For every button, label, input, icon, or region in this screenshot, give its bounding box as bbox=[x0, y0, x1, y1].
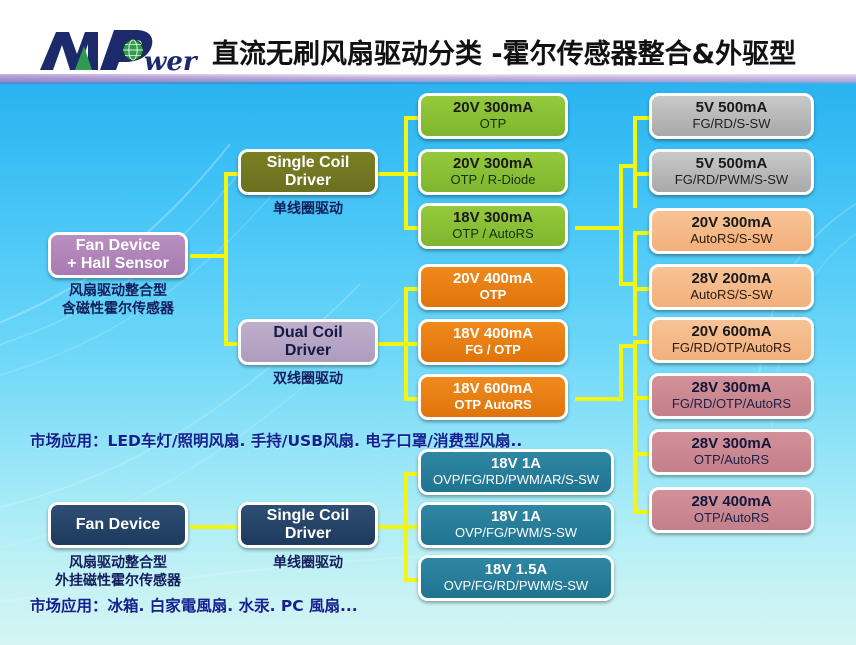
product-spec: 28V 200mA bbox=[691, 271, 771, 287]
wire-peach-branch-2 bbox=[633, 287, 649, 291]
market-note-top: 市场应用：LED车灯/照明风扇. 手持/USB风扇. 电子口罩/消费型风扇.. bbox=[30, 429, 522, 451]
wire-device-to-trunk bbox=[190, 254, 228, 258]
product-card-rose-2[interactable]: 28V 300mA OTP/AutoRS bbox=[649, 429, 814, 475]
wire-right-bus-mid bbox=[619, 226, 623, 286]
wire-gray-branch-2 bbox=[633, 172, 649, 176]
wire-rose-branch-3 bbox=[633, 452, 649, 456]
product-card-teal-3[interactable]: 18V 1.5A OVP/FG/RD/PWM/S-SW bbox=[418, 555, 614, 601]
wire-sc-branch-3 bbox=[404, 226, 418, 230]
wire-gray-branch-1 bbox=[633, 116, 649, 120]
node-line-1: Single Coil bbox=[267, 507, 350, 525]
product-card-teal-2[interactable]: 18V 1A OVP/FG/PWM/S-SW bbox=[418, 502, 614, 548]
wire-dc-branch-2 bbox=[404, 342, 418, 346]
wire-peach-bus bbox=[633, 231, 637, 336]
node-line-2: Driver bbox=[285, 525, 331, 543]
product-card-teal-1[interactable]: 18V 1A OVP/FG/RD/PWM/AR/S-SW bbox=[418, 449, 614, 495]
product-card-orange-3[interactable]: 18V 600mA OTP AutoRS bbox=[418, 374, 568, 420]
product-spec: 20V 400mA bbox=[453, 271, 533, 287]
header-bar: wer 直流无刷风扇驱动分类 -霍尔传感器整合&外驱型 bbox=[0, 0, 856, 78]
wire-bottom-branch-3 bbox=[404, 578, 418, 582]
product-spec: 18V 600mA bbox=[453, 381, 533, 397]
wire-orange-to-right bbox=[575, 397, 623, 401]
product-features: FG/RD/PWM/S-SW bbox=[675, 173, 788, 187]
node-fan-device-hall-sensor[interactable]: Fan Device + Hall Sensor bbox=[48, 232, 188, 278]
product-spec: 18V 1A bbox=[491, 509, 541, 525]
wire-dc-branch-3 bbox=[404, 397, 418, 401]
product-card-peach-1[interactable]: 20V 300mA AutoRS/S-SW bbox=[649, 208, 814, 254]
product-spec: 18V 1.5A bbox=[485, 562, 548, 578]
product-features: FG/RD/OTP/AutoRS bbox=[672, 397, 791, 411]
wire-rose-bus-main bbox=[619, 344, 623, 400]
product-spec: 28V 400mA bbox=[691, 494, 771, 510]
wire-sc-branch-2 bbox=[404, 172, 418, 176]
node-line-2: + Hall Sensor bbox=[67, 255, 169, 273]
product-spec: 18V 300mA bbox=[453, 210, 533, 226]
product-card-rose-3[interactable]: 28V 400mA OTP/AutoRS bbox=[649, 487, 814, 533]
slide-root: wer 直流无刷风扇驱动分类 -霍尔传感器整合&外驱型 bbox=[0, 0, 856, 645]
product-card-rose-1[interactable]: 28V 300mA FG/RD/OTP/AutoRS bbox=[649, 373, 814, 419]
product-features: OVP/FG/RD/PWM/AR/S-SW bbox=[433, 473, 599, 487]
node-line-2: Driver bbox=[285, 172, 331, 190]
product-features: OTP/AutoRS bbox=[694, 511, 769, 525]
caption-line-2: 含磁性霍尔传感器 bbox=[48, 300, 188, 318]
product-card-orange-2[interactable]: 18V 400mA FG / OTP bbox=[418, 319, 568, 365]
caption-fan-device-hall-sensor: 风扇驱动整合型 含磁性霍尔传感器 bbox=[48, 282, 188, 318]
product-features: OVP/FG/PWM/S-SW bbox=[455, 526, 577, 540]
wire-rose-branch-2 bbox=[633, 396, 649, 400]
product-features: OTP bbox=[480, 288, 507, 302]
caption-line-1: 风扇驱动整合型 bbox=[48, 282, 188, 300]
header-divider bbox=[0, 74, 856, 84]
product-features: OTP/AutoRS bbox=[694, 453, 769, 467]
wire-rose-branch-1 bbox=[633, 340, 649, 344]
product-spec: 20V 300mA bbox=[691, 215, 771, 231]
product-features: OTP / AutoRS bbox=[452, 227, 533, 241]
mpower-logo: wer bbox=[36, 26, 214, 74]
product-features: AutoRS/S-SW bbox=[690, 288, 772, 302]
caption-line-1: 风扇驱动整合型 bbox=[33, 554, 203, 572]
product-features: FG/RD/S-SW bbox=[693, 117, 771, 131]
wire-sc-branch-1 bbox=[404, 116, 418, 120]
product-card-orange-1[interactable]: 20V 400mA OTP bbox=[418, 264, 568, 310]
node-line-2: Driver bbox=[285, 342, 331, 360]
product-features: OTP AutoRS bbox=[454, 398, 531, 412]
market-note-bottom: 市场应用：冰箱. 白家電風扇. 水汞. PC 風扇... bbox=[30, 594, 358, 616]
product-spec: 18V 400mA bbox=[453, 326, 533, 342]
caption-fan-device-bottom: 风扇驱动整合型 外挂磁性霍尔传感器 bbox=[33, 554, 203, 590]
caption-single-coil-driver-bottom: 单线圈驱动 bbox=[238, 554, 378, 572]
node-fan-device-bottom[interactable]: Fan Device bbox=[48, 502, 188, 548]
product-features: OTP / R-Diode bbox=[450, 173, 535, 187]
wire-rose-branch-4 bbox=[633, 510, 649, 514]
product-card-green-3[interactable]: 18V 300mA OTP / AutoRS bbox=[418, 203, 568, 249]
wire-green-to-right bbox=[575, 226, 623, 230]
product-features: FG / OTP bbox=[465, 343, 521, 357]
product-card-peach-3[interactable]: 20V 600mA FG/RD/OTP/AutoRS bbox=[649, 317, 814, 363]
product-spec: 28V 300mA bbox=[691, 436, 771, 452]
product-spec: 20V 300mA bbox=[453, 100, 533, 116]
product-spec: 28V 300mA bbox=[691, 380, 771, 396]
wire-right-bus-upper bbox=[619, 164, 623, 230]
caption-single-coil-driver-top: 单线圈驱动 bbox=[238, 200, 378, 218]
product-spec: 18V 1A bbox=[491, 456, 541, 472]
node-single-coil-driver-bottom[interactable]: Single Coil Driver bbox=[238, 502, 378, 548]
wire-bottom-device-to-driver bbox=[190, 525, 238, 529]
wire-dc-branch-1 bbox=[404, 287, 418, 291]
product-spec: 20V 300mA bbox=[453, 156, 533, 172]
product-spec: 20V 600mA bbox=[691, 324, 771, 340]
page-title: 直流无刷风扇驱动分类 -霍尔传感器整合&外驱型 bbox=[212, 32, 796, 71]
node-dual-coil-driver[interactable]: Dual Coil Driver bbox=[238, 319, 378, 365]
product-card-green-2[interactable]: 20V 300mA OTP / R-Diode bbox=[418, 149, 568, 195]
caption-line-2: 外挂磁性霍尔传感器 bbox=[33, 572, 203, 590]
wire-gray-bus bbox=[633, 116, 637, 208]
wire-top-trunk-vertical bbox=[224, 172, 228, 346]
product-spec: 5V 500mA bbox=[696, 100, 768, 116]
diagram-canvas: Fan Device + Hall Sensor 风扇驱动整合型 含磁性霍尔传感… bbox=[0, 84, 856, 645]
wire-rose-bus bbox=[633, 340, 637, 514]
wire-bottom-branch-1 bbox=[404, 472, 418, 476]
wire-trunk-to-single-coil bbox=[224, 172, 238, 176]
product-card-gray-1[interactable]: 5V 500mA FG/RD/S-SW bbox=[649, 93, 814, 139]
node-single-coil-driver-top[interactable]: Single Coil Driver bbox=[238, 149, 378, 195]
node-line-1: Fan Device bbox=[76, 237, 160, 255]
product-card-peach-2[interactable]: 28V 200mA AutoRS/S-SW bbox=[649, 264, 814, 310]
product-spec: 5V 500mA bbox=[696, 156, 768, 172]
product-features: AutoRS/S-SW bbox=[690, 232, 772, 246]
product-features: FG/RD/OTP/AutoRS bbox=[672, 341, 791, 355]
wire-peach-branch-1 bbox=[633, 231, 649, 235]
svg-text:wer: wer bbox=[144, 47, 199, 74]
node-line-1: Single Coil bbox=[267, 154, 350, 172]
product-features: OVP/FG/RD/PWM/S-SW bbox=[444, 579, 588, 593]
caption-dual-coil-driver: 双线圈驱动 bbox=[238, 370, 378, 388]
product-features: OTP bbox=[480, 117, 507, 131]
node-line-1: Fan Device bbox=[76, 516, 160, 534]
wire-bottom-branch-2 bbox=[404, 525, 418, 529]
node-line-1: Dual Coil bbox=[273, 324, 342, 342]
product-card-green-1[interactable]: 20V 300mA OTP bbox=[418, 93, 568, 139]
product-card-gray-2[interactable]: 5V 500mA FG/RD/PWM/S-SW bbox=[649, 149, 814, 195]
wire-trunk-to-dual-coil bbox=[224, 342, 238, 346]
